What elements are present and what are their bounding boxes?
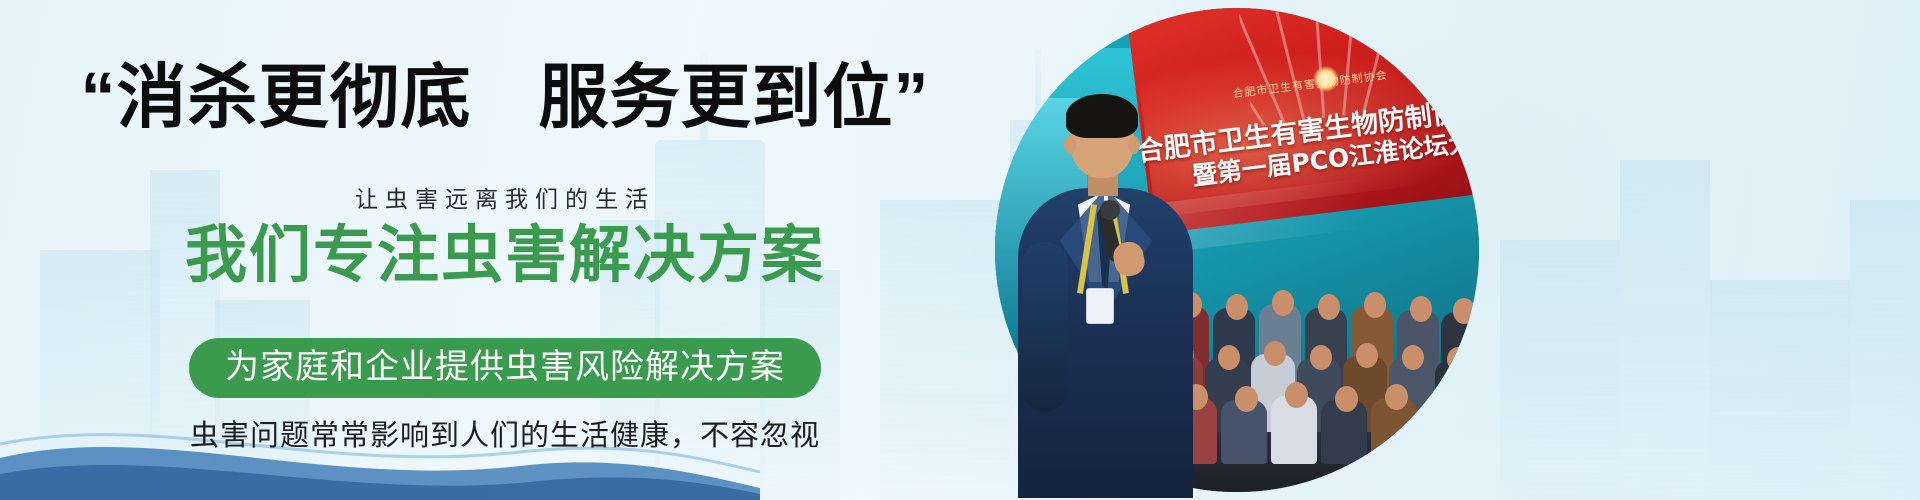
crowd-person-head bbox=[1453, 298, 1475, 324]
banner-subline: 让虫害远离我们的生活 bbox=[0, 180, 1010, 214]
speaker-ear-left bbox=[1064, 136, 1076, 154]
crowd-person-head bbox=[1318, 294, 1340, 320]
banner-text-block: “消杀更彻底 服务更到位” 让虫害远离我们的生活 我们专注虫害解决方案 为家庭和… bbox=[0, 0, 1010, 500]
crowd-person-head bbox=[1364, 292, 1386, 318]
speaker-arm bbox=[1022, 242, 1068, 412]
promo-banner: “消杀更彻底 服务更到位” 让虫害远离我们的生活 我们专注虫害解决方案 为家庭和… bbox=[0, 0, 1920, 500]
banner-pill-wrapper: 为家庭和企业提供虫害风险解决方案 bbox=[0, 338, 1010, 398]
banner-headline: “消杀更彻底 服务更到位” bbox=[0, 62, 1010, 132]
crowd-person-head bbox=[1235, 386, 1258, 412]
crowd-person-head bbox=[1310, 345, 1332, 370]
crowd-person-head bbox=[1356, 343, 1378, 368]
crowd-person-head bbox=[1226, 294, 1248, 320]
headline-part-2: 服务更到位” bbox=[538, 58, 929, 136]
speaker-ear-right bbox=[1128, 136, 1140, 154]
headline-part-1: “消杀更彻底 bbox=[81, 58, 472, 136]
speaker-hair bbox=[1066, 94, 1138, 138]
banner-green-title: 我们专注虫害解决方案 bbox=[0, 225, 1010, 287]
value-proposition-pill: 为家庭和企业提供虫害风险解决方案 bbox=[189, 338, 821, 398]
crowd-person-head bbox=[1285, 382, 1308, 408]
banner-bottom-text: 虫害问题常常影响到人们的生活健康，不容忽视 bbox=[0, 412, 1010, 454]
crowd-person-head bbox=[1410, 296, 1432, 322]
crowd-person-head bbox=[1434, 388, 1457, 414]
crowd-person-head bbox=[1218, 345, 1240, 370]
crowd-person-head bbox=[1385, 384, 1408, 410]
speaker-badge bbox=[1086, 288, 1114, 324]
crowd-person-head bbox=[1264, 341, 1286, 366]
crowd-person-head bbox=[1447, 347, 1469, 372]
speaker-figure bbox=[1018, 92, 1193, 492]
microphone-head-icon bbox=[1100, 200, 1120, 220]
crowd-person-head bbox=[1272, 290, 1294, 316]
crowd-person-head bbox=[1402, 345, 1424, 370]
crowd-person-head bbox=[1335, 386, 1358, 412]
